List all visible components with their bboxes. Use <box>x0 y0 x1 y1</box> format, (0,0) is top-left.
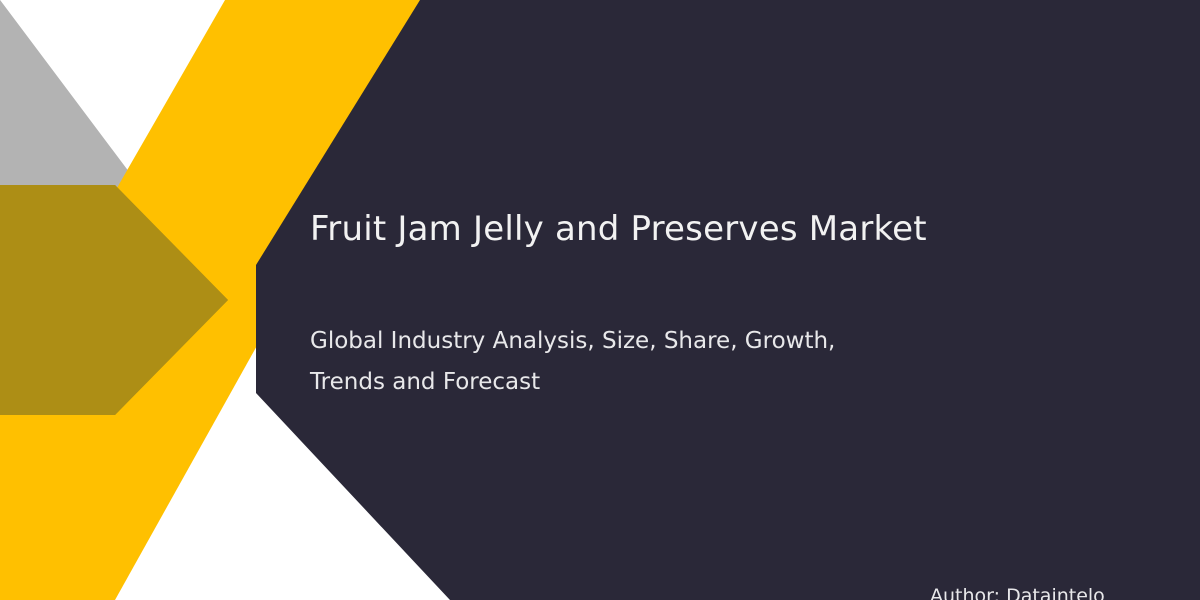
title-slide: Fruit Jam Jelly and Preserves Market Glo… <box>0 0 1200 600</box>
slide-text-layer: Fruit Jam Jelly and Preserves Market Glo… <box>0 0 1200 600</box>
slide-subtitle-line-1: Global Industry Analysis, Size, Share, G… <box>310 321 950 362</box>
slide-subtitle: Global Industry Analysis, Size, Share, G… <box>310 321 950 403</box>
slide-author: Author: Dataintelo <box>930 583 1105 600</box>
page-title: Fruit Jam Jelly and Preserves Market <box>310 206 1110 252</box>
slide-subtitle-line-2: Trends and Forecast <box>310 362 950 403</box>
